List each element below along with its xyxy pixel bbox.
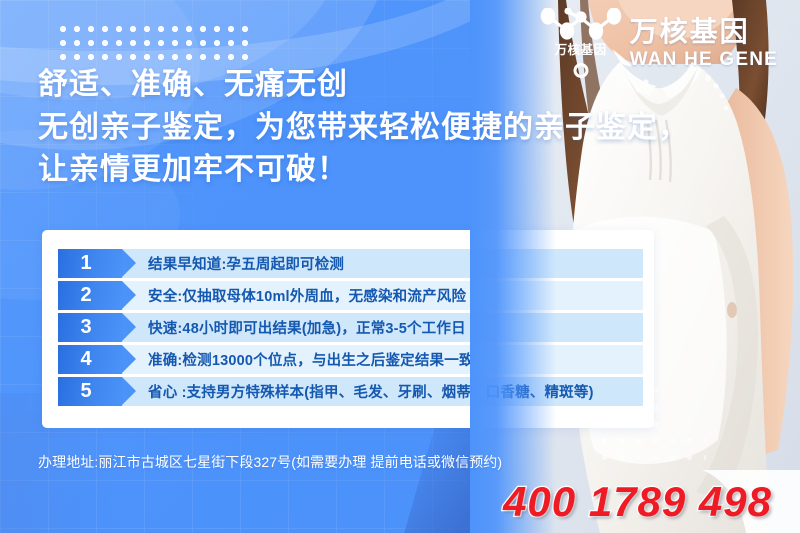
brand-wordmark: 万核基因 WAN HE GENE (630, 18, 778, 72)
feature-text: 准确:检测13000个位点，与出生之后鉴定结果一致 (148, 345, 474, 374)
feature-number-badge: 3 (58, 313, 122, 342)
feature-number-badge: 2 (58, 281, 122, 310)
feature-number-badge: 4 (58, 345, 122, 374)
feature-number-badge: 5 (58, 377, 122, 406)
headline-line-2: 无创亲子鉴定，为您带来轻松便捷的亲子鉴定， (38, 107, 689, 150)
contact-phone-number[interactable]: 400 1789 498 (503, 478, 772, 526)
feature-text: 安全:仅抽取母体10ml外周血，无感染和流产风险 (148, 281, 466, 310)
feature-number-badge: 1 (58, 249, 122, 278)
page-title: 舒适、准确、无痛无创 无创亲子鉴定，为您带来轻松便捷的亲子鉴定， 让亲情更加牢不… (38, 64, 689, 192)
dot-grid-top (56, 22, 256, 62)
brand-logo[interactable]: 万核基因 万核基因 WAN HE GENE (538, 8, 778, 82)
feature-text: 快速:48小时即可出结果(加急)，正常3-5个工作日 (148, 313, 466, 342)
office-address: 办理地址:丽江市古城区七星街下段327号(如需要办理 提前电话或微信预约) (38, 452, 502, 472)
brand-name-cn: 万核基因 (630, 18, 750, 46)
promo-poster: 万核基因 万核基因 WAN HE GENE 舒适、准确、无痛无创 无创亲子鉴定，… (0, 0, 800, 533)
headline-line-3: 让亲情更加牢不可破！ (38, 149, 689, 192)
molecule-icon: 万核基因 (538, 8, 624, 82)
feature-text: 结果早知道:孕五周起即可检测 (148, 249, 344, 278)
brand-swish-icon (610, 46, 636, 72)
logo-mark-circle (573, 63, 588, 78)
brand-name-en: WAN HE GENE (630, 50, 778, 69)
